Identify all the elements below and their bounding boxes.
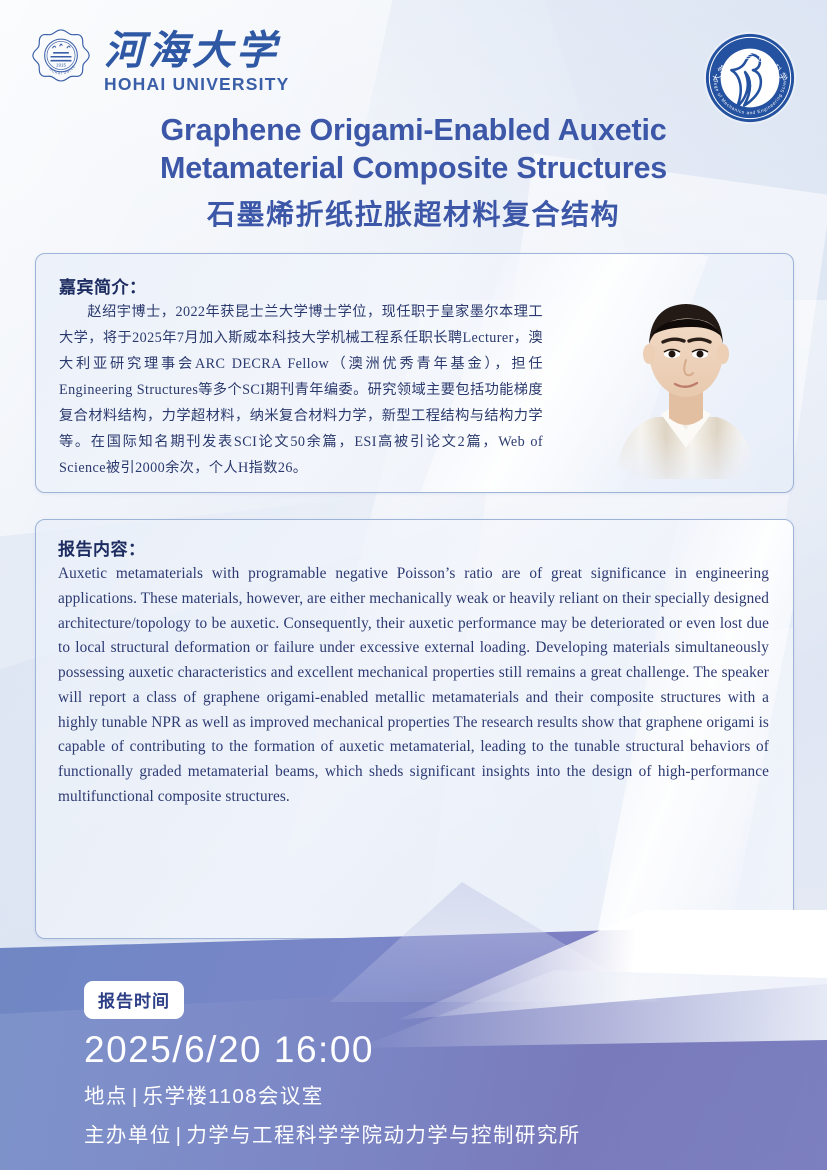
hohai-chinese-name: 河海大学 <box>104 31 289 71</box>
abstract-card: 报告内容： Auxetic metamaterials with program… <box>35 519 794 939</box>
host-line: 主办单位|力学与工程科学学院动力学与控制研究所 <box>84 1118 581 1148</box>
host-separator: | <box>172 1124 187 1147</box>
svg-text:HOHAI UNIVERSITY: HOHAI UNIVERSITY <box>28 28 76 76</box>
title-en-line-1: Graphene Origami-Enabled Auxetic <box>0 112 827 150</box>
host-label: 主办单位 <box>84 1124 172 1147</box>
host-value: 力学与工程科学学院动力学与控制研究所 <box>186 1124 580 1147</box>
title-cn: 石墨烯折纸拉胀超材料复合结构 <box>0 193 827 233</box>
poster-header: 1915 HOHAI UNIVERSITY 河海大学 HOHAI UNIVERS… <box>0 0 827 250</box>
speaker-portrait-photo <box>601 274 771 479</box>
title-en-line-2: Metamaterial Composite Structures <box>0 150 827 188</box>
venue-line: 地点|乐学楼1108会议室 <box>84 1079 581 1109</box>
abstract-text: Auxetic metamaterials with programable n… <box>58 562 769 810</box>
abstract-section-label: 报告内容： <box>58 535 769 560</box>
footer-content: 报告时间 2025/6/20 16:00 地点|乐学楼1108会议室 主办单位|… <box>84 981 581 1148</box>
seminar-poster: 1915 HOHAI UNIVERSITY 河海大学 HOHAI UNIVERS… <box>0 0 827 1170</box>
venue-value: 乐学楼1108会议室 <box>143 1085 324 1108</box>
speaker-bio-card: 嘉宾简介： 赵绍宇博士，2022年获昆士兰大学博士学位，现任职于皇家墨尔本理工大… <box>35 253 794 493</box>
emblem-arc-text: HOHAI UNIVERSITY <box>28 28 76 76</box>
hohai-english-name: HOHAI UNIVERSITY <box>104 76 289 94</box>
venue-label: 地点 <box>84 1085 128 1108</box>
event-datetime: 2025/6/20 16:00 <box>84 1029 581 1070</box>
emblem-year: 1915 <box>56 63 67 68</box>
hohai-university-logo: 1915 HOHAI UNIVERSITY 河海大学 HOHAI UNIVERS… <box>28 28 289 96</box>
bio-text: 赵绍宇博士，2022年获昆士兰大学博士学位，现任职于皇家墨尔本理工大学，将于20… <box>59 300 543 482</box>
hohai-emblem-icon: 1915 HOHAI UNIVERSITY <box>28 28 94 96</box>
venue-separator: | <box>128 1085 143 1108</box>
bio-section-label: 嘉宾简介： <box>59 273 543 298</box>
time-badge: 报告时间 <box>84 981 184 1019</box>
poster-title: Graphene Origami-Enabled Auxetic Metamat… <box>0 112 827 233</box>
